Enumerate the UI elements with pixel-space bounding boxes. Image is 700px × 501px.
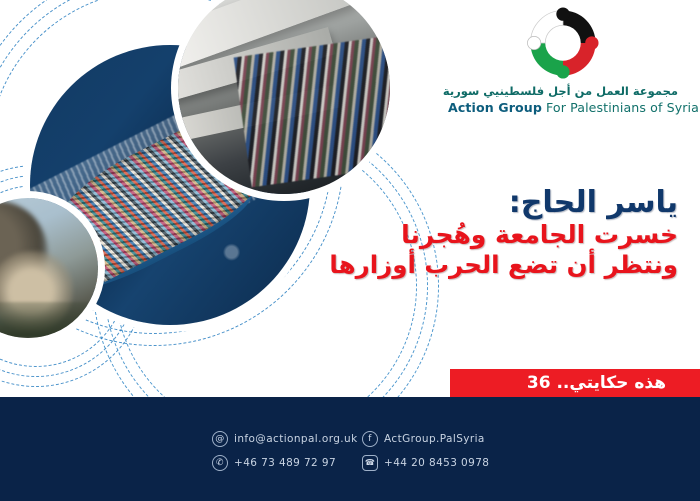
headline-line-2: خسرت الجامعة وهُجرنا: [208, 220, 678, 251]
logo-english-name: Action Group For Palestinians of Syria: [448, 100, 678, 115]
contact-whatsapp-text: +46 73 489 72 97: [234, 457, 336, 469]
headline-line-3: ونتظر أن تضع الحرب أوزارها: [208, 250, 678, 280]
contact-list: @ info@actionpal.org.uk f ActGroup.PalSy…: [212, 427, 542, 475]
contact-facebook-text: ActGroup.PalSyria: [384, 433, 485, 445]
contact-whatsapp[interactable]: ✆ +46 73 489 72 97: [212, 455, 362, 471]
logo-english-rest: For Palestinians of Syria: [542, 100, 699, 115]
facebook-icon: f: [362, 431, 378, 447]
telephone-icon: ☎: [362, 455, 378, 471]
contact-email-text: info@actionpal.org.uk: [234, 433, 358, 445]
organization-logo-block: مجموعة العمل من أجل فلسطينيي سورية Actio…: [448, 6, 678, 115]
story-number-banner: هذه حكايتي.. 36: [450, 369, 700, 397]
contact-telephone[interactable]: ☎ +44 20 8453 0978: [362, 455, 542, 471]
contact-email[interactable]: @ info@actionpal.org.uk: [212, 431, 362, 447]
story-number-label: هذه حكايتي.. 36: [527, 373, 666, 393]
at-email-icon: @: [212, 431, 228, 447]
headline-person-name: ياسر الحاج:: [208, 186, 678, 220]
logo-english-bold: Action Group: [448, 100, 542, 115]
footer-bar: @ info@actionpal.org.uk f ActGroup.PalSy…: [0, 397, 700, 501]
contact-facebook[interactable]: f ActGroup.PalSyria: [362, 431, 542, 447]
contact-telephone-text: +44 20 8453 0978: [384, 457, 489, 469]
whatsapp-icon: ✆: [212, 455, 228, 471]
crowd-of-people: [233, 35, 390, 187]
headline-block: ياسر الحاج: خسرت الجامعة وهُجرنا ونتظر أ…: [208, 186, 678, 280]
four-people-circle-logo-icon: [525, 6, 601, 80]
ground-treeline: [0, 302, 98, 338]
poster-canvas: مجموعة العمل من أجل فلسطينيي سورية Actio…: [0, 0, 700, 501]
logo-arabic-name: مجموعة العمل من أجل فلسطينيي سورية: [448, 84, 678, 98]
